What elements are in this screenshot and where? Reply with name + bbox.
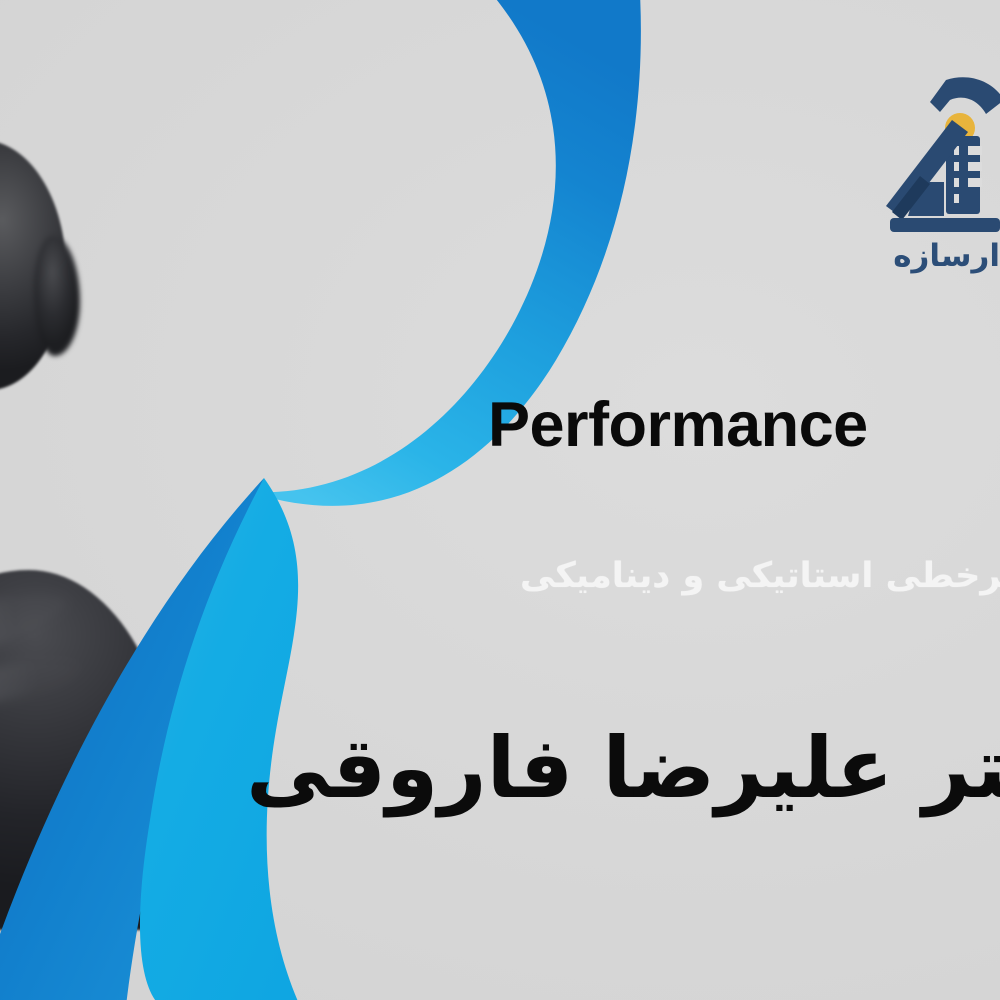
presenter-name: کتر علیرضا فاروقی	[246, 716, 1000, 821]
company-logo[interactable]: ارسازه	[874, 66, 1000, 296]
slide-background	[0, 0, 1000, 1000]
presentation-slide: ارسازه Performance های غیرخطی استاتیکی و…	[0, 0, 1000, 1000]
hammer-building-icon	[874, 66, 1000, 236]
slide-title: Performance	[488, 392, 868, 458]
slide-subtitle: های غیرخطی استاتیکی و دینامیکی	[520, 556, 1000, 596]
logo-wordmark: ارسازه	[872, 238, 1000, 274]
